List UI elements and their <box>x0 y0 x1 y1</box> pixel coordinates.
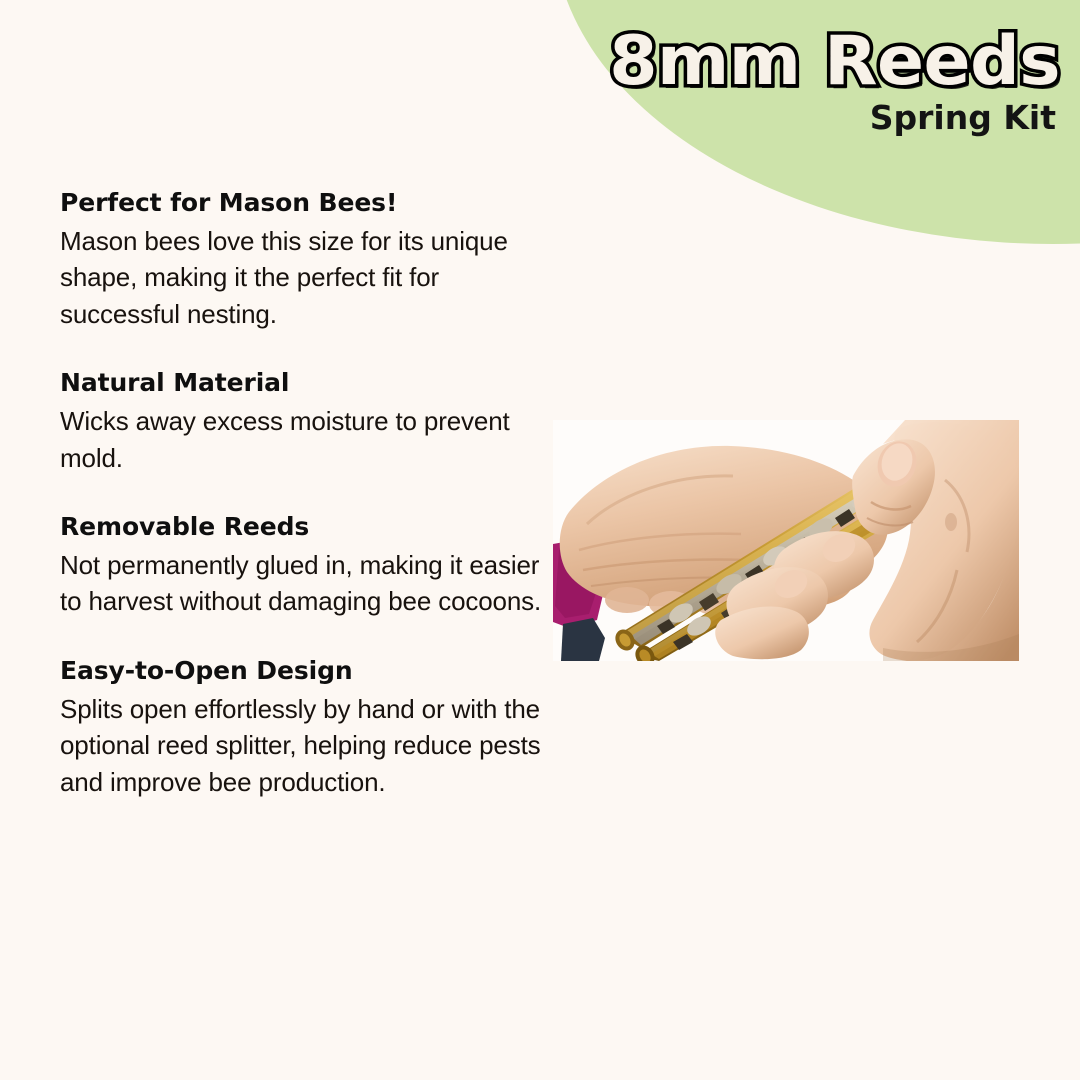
header-text-group: 8mm Reeds Spring Kit <box>560 28 1060 136</box>
product-photo <box>553 420 1019 661</box>
poster-canvas: 8mm Reeds Spring Kit Perfect for Mason B… <box>0 0 1080 1080</box>
feature-heading: Natural Material <box>60 366 552 401</box>
feature-list: Perfect for Mason Bees! Mason bees love … <box>60 186 552 801</box>
feature-body: Splits open effortlessly by hand or with… <box>60 691 552 801</box>
feature-heading: Easy-to-Open Design <box>60 654 552 689</box>
page-subtitle: Spring Kit <box>560 100 1060 136</box>
feature-body: Not permanently glued in, making it easi… <box>60 547 552 620</box>
feature-heading: Perfect for Mason Bees! <box>60 186 552 221</box>
feature-block-easy-to-open: Easy-to-Open Design Splits open effortle… <box>60 654 552 800</box>
feature-body: Wicks away excess moisture to prevent mo… <box>60 403 552 476</box>
feature-heading: Removable Reeds <box>60 510 552 545</box>
feature-block-natural-material: Natural Material Wicks away excess moist… <box>60 366 552 476</box>
page-title: 8mm Reeds <box>550 28 1060 96</box>
product-photo-illustration <box>553 420 1019 661</box>
feature-body: Mason bees love this size for its unique… <box>60 223 552 333</box>
feature-block-mason-bees: Perfect for Mason Bees! Mason bees love … <box>60 186 552 332</box>
feature-block-removable-reeds: Removable Reeds Not permanently glued in… <box>60 510 552 620</box>
